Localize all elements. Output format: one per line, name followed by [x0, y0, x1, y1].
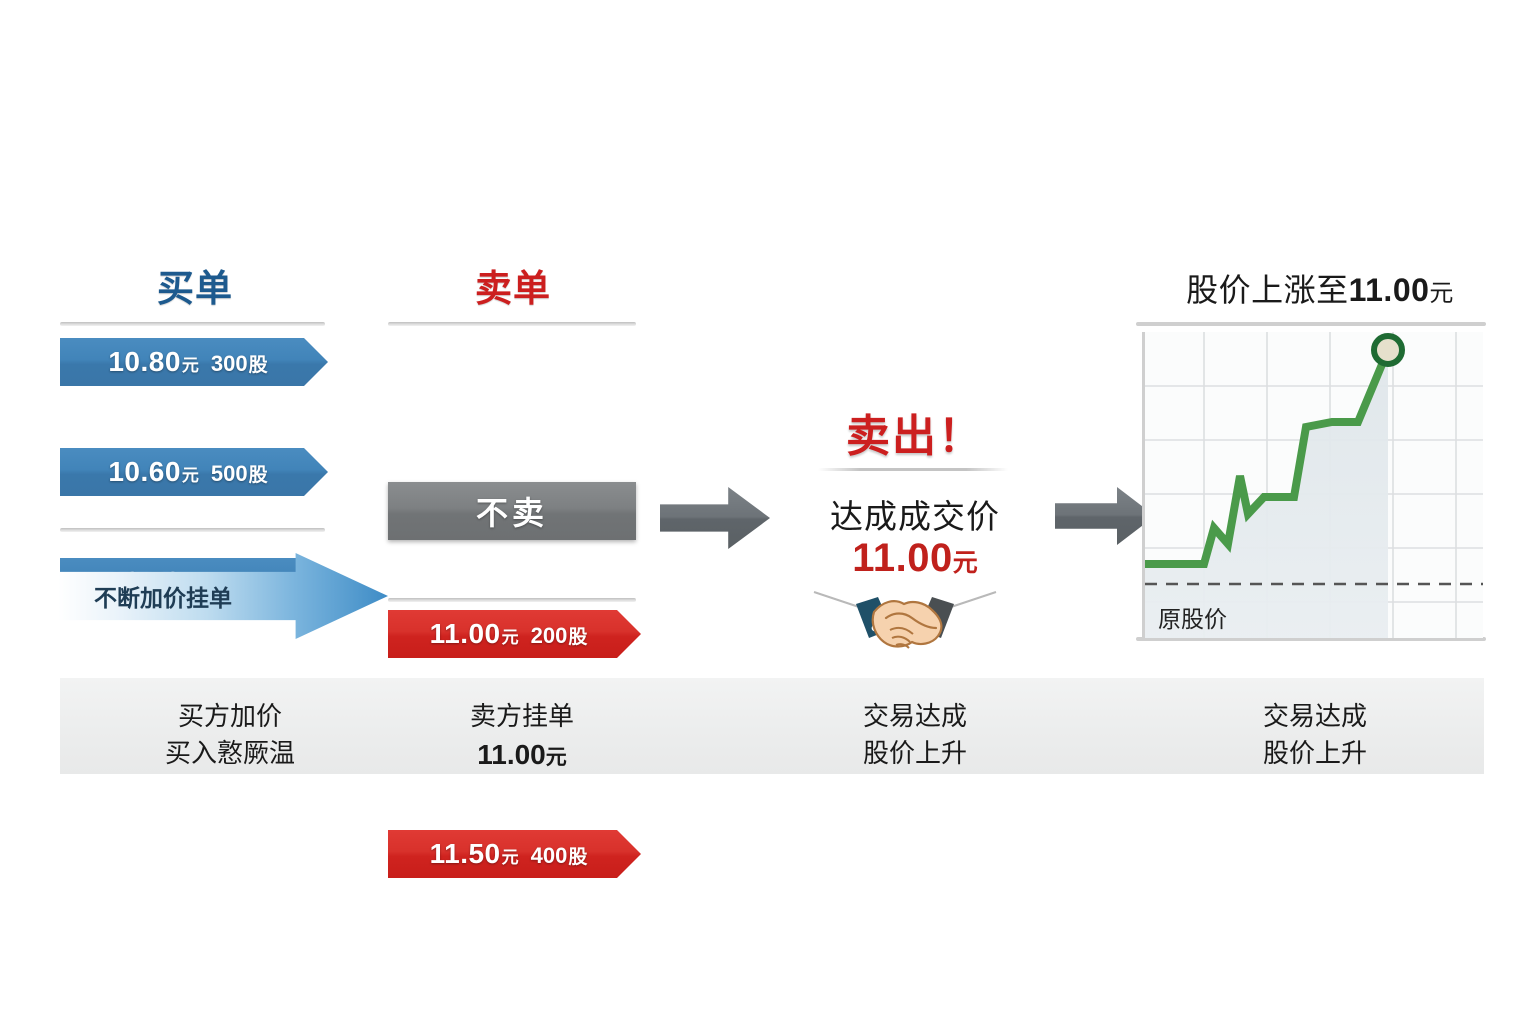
buy-order-price: 10.60	[108, 456, 181, 488]
deal-sub-label: 达成成交价	[790, 490, 1040, 538]
buy-order-price-unit: 元	[182, 461, 199, 486]
chart-title-value: 11.00	[1349, 272, 1430, 308]
caption-cell: 交易达成 股价上升	[1160, 698, 1470, 772]
keep-bidding-label: 不断加价挂单	[94, 579, 232, 613]
buy-order-row[interactable]: 10.80 元 300 股	[60, 338, 328, 386]
sell-order-price: 11.00	[430, 618, 501, 650]
buy-order-row[interactable]: 10.60 元 500 股	[60, 448, 328, 496]
buy-ladder-bottom-rule	[60, 528, 325, 532]
caption-line-1: 交易达成	[1160, 698, 1470, 735]
sell-hold-label: 不卖	[476, 488, 548, 534]
sell-order-qty-unit: 股	[568, 842, 587, 869]
buy-order-price: 10.80	[108, 346, 181, 378]
caption-cell: 买方加价 买入憝厥温	[60, 698, 400, 772]
deal-shout-label: 卖出！	[790, 400, 1040, 464]
sell-hold-row[interactable]: 不卖	[388, 482, 636, 540]
sell-order-qty: 400	[531, 843, 568, 869]
chart-title-unit: 元	[1429, 280, 1454, 307]
original-price-label: 原股价	[1158, 600, 1227, 634]
sell-ladder-bottom-rule	[388, 598, 636, 602]
chart-title: 股价上涨至11.00元	[1150, 265, 1490, 311]
deal-price-unit: 元	[953, 549, 978, 577]
sell-ladder-top-rule	[388, 322, 636, 326]
flow-arrow-right-icon	[660, 487, 770, 549]
buy-order-qty-unit: 股	[249, 460, 268, 487]
deal-divider	[818, 468, 1008, 471]
sell-order-row[interactable]: 11.50 元 400 股	[388, 830, 641, 878]
sell-order-qty-unit: 股	[568, 622, 587, 649]
diagram-canvas: 买单 10.80 元 300 股 10.60 元 500 股 10.50 元 4…	[0, 0, 1536, 1024]
caption-line-1: 卖方挂单	[372, 698, 672, 735]
caption-cell: 卖方挂单 11.00元	[372, 698, 672, 775]
handshake-icon	[812, 582, 998, 652]
buy-ladder-top-rule	[60, 322, 325, 326]
buy-order-qty: 300	[211, 351, 248, 377]
price-chart: 原股价	[1136, 322, 1486, 644]
sell-column-title: 卖单	[388, 258, 638, 312]
buy-order-qty-unit: 股	[249, 350, 268, 377]
deal-price: 11.00元	[790, 536, 1040, 581]
caption-line-1: 买方加价	[60, 698, 400, 735]
buy-order-price-unit: 元	[182, 351, 199, 376]
sell-order-qty: 200	[531, 623, 568, 649]
caption-line-2: 股价上升	[760, 735, 1070, 772]
caption-cell: 交易达成 股价上升	[760, 698, 1070, 772]
caption-line-2-value: 11.00	[477, 739, 546, 770]
caption-line-1: 交易达成	[760, 698, 1070, 735]
buy-order-qty: 500	[211, 461, 248, 487]
deal-price-value: 11.00	[852, 536, 952, 580]
caption-line-2: 买入憝厥温	[60, 735, 400, 772]
caption-line-2: 股价上升	[1160, 735, 1470, 772]
buy-column-title: 买单	[60, 258, 330, 312]
sell-order-price-unit: 元	[502, 623, 519, 648]
caption-line-2-unit: 元	[546, 746, 567, 769]
sell-order-price: 11.50	[430, 838, 501, 870]
caption-line-2: 11.00元	[372, 735, 672, 775]
sell-order-price-unit: 元	[502, 843, 519, 868]
chart-title-prefix: 股价上涨至	[1186, 272, 1349, 308]
sell-order-row[interactable]: 11.00 元 200 股	[388, 610, 641, 658]
